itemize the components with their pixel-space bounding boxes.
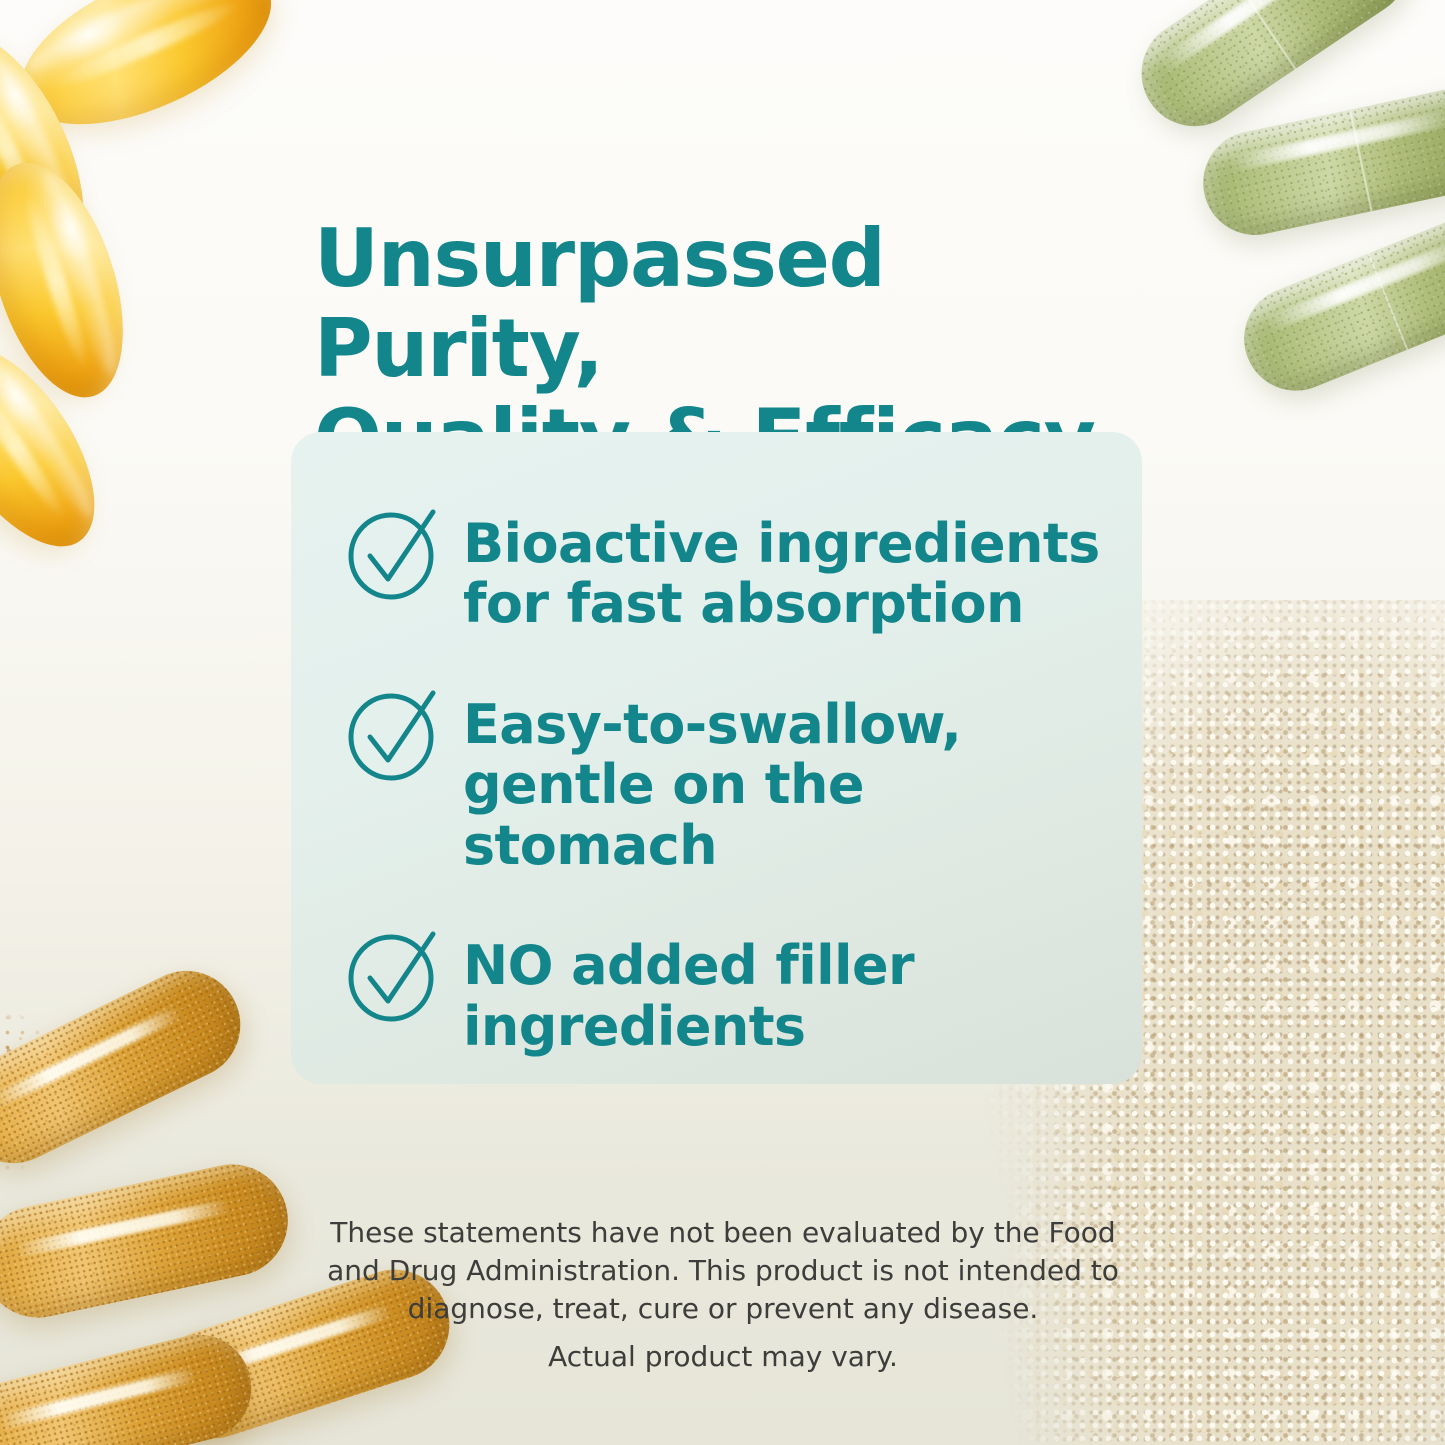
circle-check-icon — [343, 500, 447, 604]
benefits-card: Bioactive ingredients for fast absorptio… — [291, 432, 1142, 1084]
benefit-item-bioactive: Bioactive ingredients for fast absorptio… — [343, 506, 1102, 635]
benefit-item-easy-to-swallow: Easy-to-swallow, gentle on the stomach — [343, 687, 1102, 876]
circle-check-icon — [343, 681, 447, 785]
benefit-label: NO added filler ingredients — [463, 928, 914, 1057]
circle-check-icon — [343, 922, 447, 1026]
benefit-item-no-fillers: NO added filler ingredients — [343, 928, 1102, 1057]
fda-disclaimer: These statements have not been evaluated… — [300, 1214, 1146, 1328]
product-infographic: Unsurpassed Purity, Quality & Efficacy B… — [0, 0, 1445, 1445]
benefit-label: Bioactive ingredients for fast absorptio… — [463, 506, 1100, 635]
product-variation-note: Actual product may vary. — [300, 1340, 1146, 1373]
benefit-label: Easy-to-swallow, gentle on the stomach — [463, 687, 1102, 876]
